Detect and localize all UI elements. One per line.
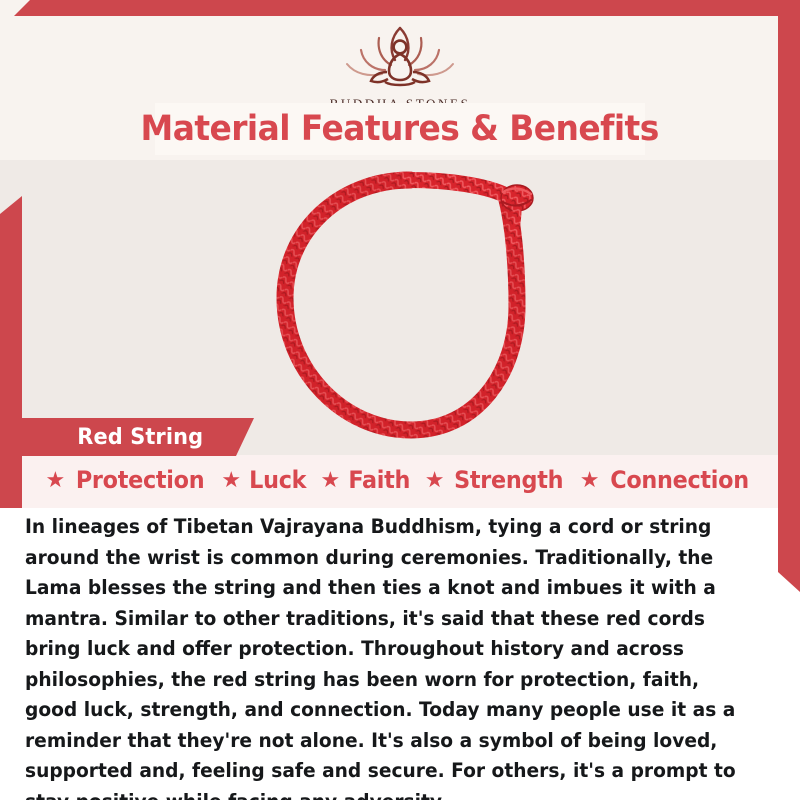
- benefit-label: Protection: [76, 466, 204, 494]
- product-image-red-string-bracelet: [245, 158, 575, 454]
- title-banner: Material Features & Benefits: [155, 103, 645, 155]
- benefit-label: Strength: [455, 466, 564, 494]
- benefit-item: ★ Faith: [320, 466, 412, 494]
- star-icon: ★: [45, 469, 65, 491]
- star-icon: ★: [320, 469, 340, 491]
- lotus-meditation-icon: [325, 20, 475, 92]
- star-icon: ★: [221, 469, 241, 491]
- benefit-item: ★ Protection: [45, 466, 209, 494]
- description-text: In lineages of Tibetan Vajrayana Buddhis…: [25, 512, 743, 800]
- benefit-item: ★ Strength: [425, 466, 568, 494]
- star-icon: ★: [425, 469, 445, 491]
- benefit-label: Luck: [249, 466, 306, 494]
- benefit-item: ★ Luck: [221, 466, 308, 494]
- benefit-label: Faith: [349, 466, 411, 494]
- benefit-item: ★ Connection: [580, 466, 755, 494]
- decorative-top-bar: [0, 0, 800, 16]
- star-icon: ★: [580, 469, 600, 491]
- infographic-page: BUDDHA STONES Material Features & Benefi…: [0, 0, 800, 800]
- brand-logo: BUDDHA STONES: [0, 20, 800, 112]
- product-tag: Red String: [22, 418, 254, 456]
- product-tag-label: Red String: [77, 425, 203, 450]
- decorative-left-strip: [0, 196, 22, 508]
- benefits-row: ★ Protection ★ Luck ★ Faith ★ Strength ★…: [0, 466, 800, 494]
- page-title: Material Features & Benefits: [141, 109, 659, 149]
- benefit-label: Connection: [611, 466, 750, 494]
